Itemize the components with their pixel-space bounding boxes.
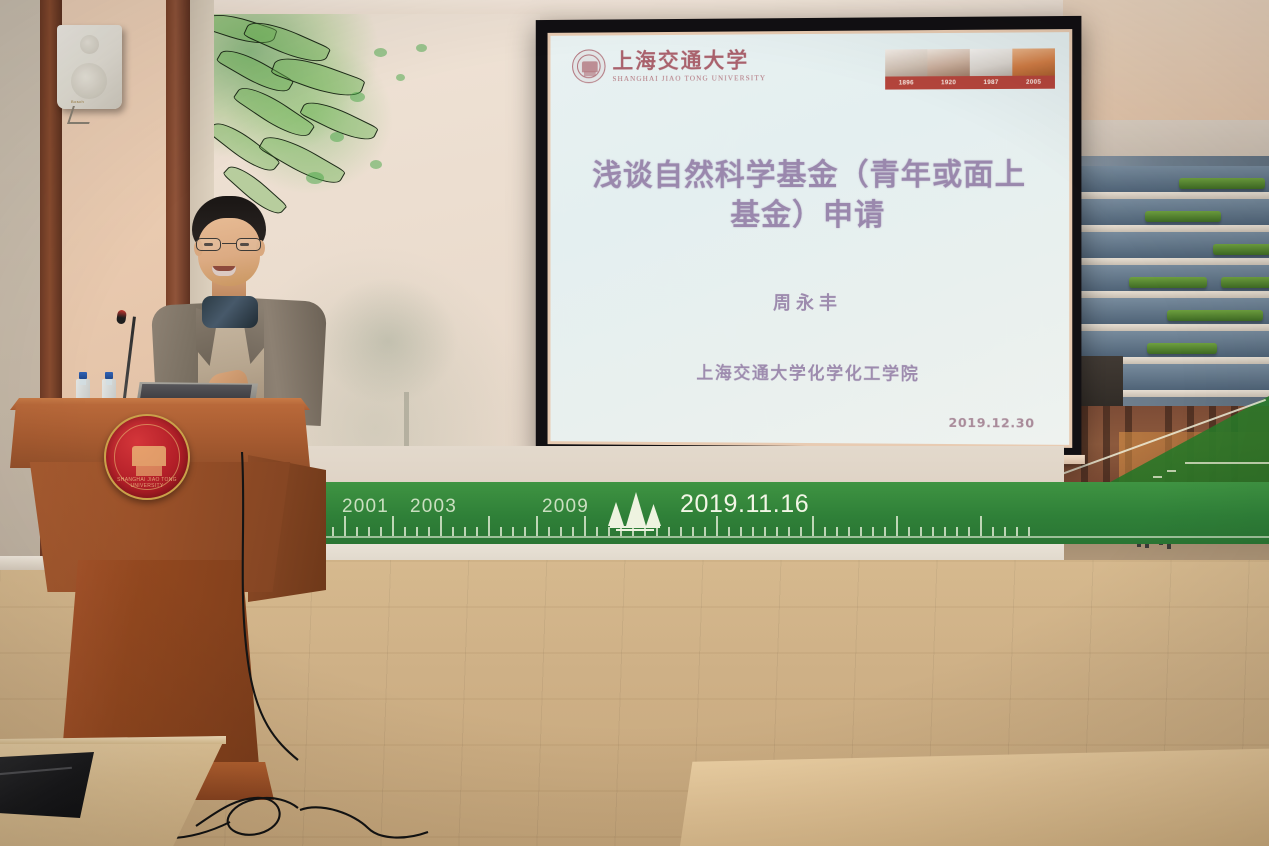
screen-inner-frame: 上海交通大学 SHANGHAI JIAO TONG UNIVERSITY 189…: [548, 29, 1073, 448]
poster-green-terrace: [1167, 310, 1263, 321]
crest-text: SHANGHAI JIAO TONG UNIVERSITY: [106, 477, 188, 489]
history-year: 1987: [970, 76, 1013, 89]
history-photo-cell: 1987: [970, 49, 1013, 90]
history-photo-icon: [970, 49, 1013, 76]
slide-date: 2019.12.30: [949, 415, 1035, 431]
bottle-cap: [79, 372, 87, 379]
presentation-slide: 上海交通大学 SHANGHAI JIAO TONG UNIVERSITY 189…: [550, 32, 1069, 445]
bottle-neck: [80, 378, 86, 385]
history-photo-icon: [885, 49, 927, 76]
slide-header: 上海交通大学 SHANGHAI JIAO TONG UNIVERSITY 189…: [550, 32, 1069, 97]
speaker-woofer-icon: [71, 63, 107, 99]
patterned-scarf: [202, 296, 258, 328]
crest-anvil-shape: [132, 446, 166, 466]
poster-floor-slab: [1063, 291, 1269, 298]
poster-floor-slab: [1063, 258, 1269, 265]
poster-green-terrace: [1147, 343, 1217, 354]
wall-speaker: Bosch: [57, 25, 122, 109]
crest-base-shape: [136, 466, 162, 476]
lecture-hall-photo: Bosch: [0, 0, 1269, 846]
mural-splash-dot: [370, 160, 382, 169]
history-year: 1896: [885, 76, 927, 89]
slide-title: 浅谈自然科学基金（青年或面上基金）申请: [590, 155, 1029, 235]
front-table-right: [680, 748, 1269, 846]
floor-cable-coil: [170, 780, 430, 846]
sjtu-wordmark: 上海交通大学 SHANGHAI JIAO TONG UNIVERSITY: [612, 49, 766, 83]
laptop-screen: [140, 384, 252, 400]
poster-stair-step: [1153, 476, 1162, 478]
bottle-cap: [105, 372, 113, 379]
history-photo-cell: 1920: [927, 49, 969, 89]
mural-splash-dot: [416, 44, 427, 52]
timeline-banner: 99 2001 2003 2009 2019.11.16: [214, 482, 1269, 544]
timeline-year: 2003: [410, 496, 457, 518]
poster-floor-slab: [1063, 324, 1269, 331]
seal-base-shape: [584, 71, 596, 76]
sjtu-crest-icon: SHANGHAI JIAO TONG UNIVERSITY: [104, 414, 190, 500]
poster-green-terrace: [1213, 244, 1269, 255]
poster-upper-rail: [1185, 462, 1269, 464]
slide-affiliation: 上海交通大学化学化工学院: [550, 358, 1069, 385]
history-year: 2005: [1012, 76, 1055, 89]
poster-stair-step: [1167, 470, 1176, 472]
mural-splash-dot: [396, 74, 405, 81]
history-photo-cell: 1896: [885, 49, 927, 89]
university-name-en: SHANGHAI JIAO TONG UNIVERSITY: [612, 73, 766, 83]
history-photo-icon: [927, 49, 969, 76]
glasses-bridge: [222, 243, 236, 244]
mural-splash-dot: [350, 92, 365, 102]
poster-green-terrace: [1129, 277, 1207, 288]
history-photo-cell: 2005: [1012, 48, 1055, 89]
history-year: 1920: [927, 76, 969, 89]
event-date: 2019.11.16: [680, 490, 809, 519]
poster-green-terrace: [1145, 211, 1221, 222]
speaker-brand-label: Bosch: [71, 99, 84, 104]
poster-floor-slab: [1063, 225, 1269, 232]
speaker-tweeter-icon: [80, 35, 99, 54]
lens-left: [196, 238, 221, 251]
mouth-smiling: [212, 266, 236, 276]
bottle-neck: [106, 378, 112, 385]
history-photo-icon: [1012, 48, 1055, 75]
timeline-year: 2009: [542, 496, 589, 518]
mountain-tree-icon: [606, 490, 664, 534]
mural-splash-dot: [374, 48, 387, 57]
right-wall-upper: [1063, 0, 1269, 122]
mural-splash-dot: [306, 172, 324, 184]
sjtu-seal-icon: [572, 49, 605, 83]
black-laptop: [0, 752, 94, 818]
podium-cable: [236, 452, 366, 782]
poster-green-terrace: [1179, 178, 1265, 189]
mural-splash-dot: [330, 132, 344, 142]
water-lines-icon: [610, 526, 660, 532]
timeline-baseline: [214, 536, 1269, 538]
projection-screen: 上海交通大学 SHANGHAI JIAO TONG UNIVERSITY 189…: [536, 16, 1082, 462]
poster-green-terrace: [1221, 277, 1269, 288]
poster-floor-slab: [1063, 192, 1269, 199]
laptop-hinge-line: [0, 767, 72, 775]
slide-author: 周永丰: [550, 289, 1069, 316]
lens-right: [236, 238, 261, 251]
campus-history-strip: 1896 1920 1987 2005: [885, 48, 1055, 89]
sjtu-logo: 上海交通大学 SHANGHAI JIAO TONG UNIVERSITY: [572, 48, 766, 83]
eyeglasses-icon: [196, 238, 262, 252]
university-name-cn: 上海交通大学: [612, 49, 766, 71]
